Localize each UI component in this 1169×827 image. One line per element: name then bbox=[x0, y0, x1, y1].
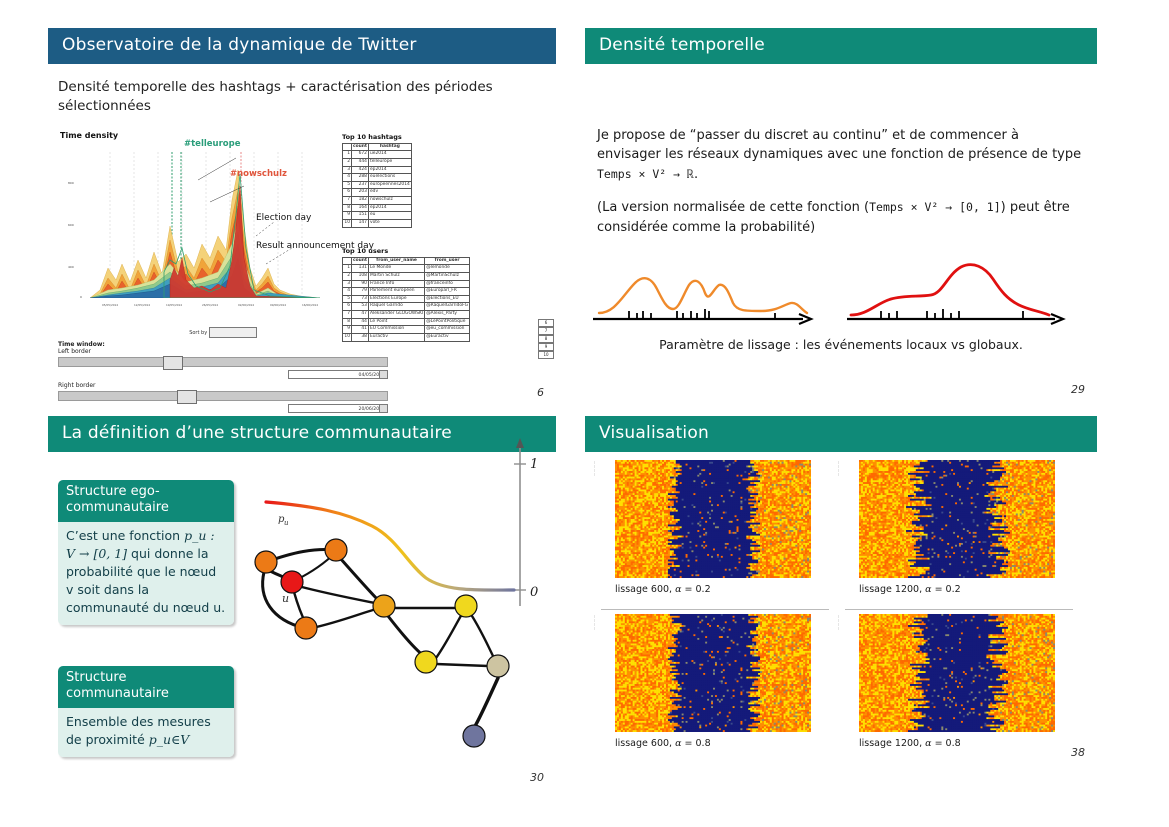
table-cell: 182 bbox=[352, 197, 369, 205]
table-row: 747Aleksander GLOGOWSKI@Alexis_Party bbox=[343, 311, 470, 319]
graph-node bbox=[415, 651, 437, 673]
table-cell: ep2014 bbox=[368, 166, 411, 174]
table-cell: @franceinfo bbox=[425, 280, 470, 288]
table-cell: 108 bbox=[352, 273, 369, 281]
slide4-title: Visualisation bbox=[585, 416, 1097, 452]
heatmap-caption: lissage 1200, α = 0.8 bbox=[859, 738, 1081, 749]
table-cell: @LePointPolitique bbox=[425, 318, 470, 326]
sort-label: Sort by bbox=[189, 330, 207, 336]
right-border-label: Right border bbox=[58, 382, 388, 389]
right-border-thumb[interactable] bbox=[177, 390, 197, 404]
sort-select[interactable] bbox=[209, 327, 257, 338]
col-from-user: from_user bbox=[425, 257, 470, 265]
slide1-figure: Time density bbox=[48, 131, 556, 399]
annotation-nowschulz: #nowschulz bbox=[230, 169, 287, 179]
p2-formula: Temps × V² → [0, 1] bbox=[869, 200, 1001, 214]
col-count: count bbox=[352, 143, 369, 151]
table-row: 5237europeennes2014 bbox=[343, 181, 412, 189]
heatmap-caption: lissage 600, α = 0.2 bbox=[615, 584, 837, 595]
index-mini-list: 678910 bbox=[538, 319, 554, 359]
slide2-paragraph-2: (La version normalisée de cette fonction… bbox=[597, 198, 1085, 237]
col-index bbox=[343, 257, 352, 265]
table-cell: 203 bbox=[352, 189, 369, 197]
svg-text:800: 800 bbox=[68, 181, 74, 185]
table-cell: vote bbox=[368, 219, 411, 227]
graph-node bbox=[487, 655, 509, 677]
caption-suffix: = 0.8 bbox=[682, 738, 711, 749]
table-cell: 444 bbox=[352, 159, 369, 167]
table-cell: 7 bbox=[343, 311, 352, 319]
heatmap-panel: ⋮⋮⋮⋮lissage 600, α = 0.8 bbox=[593, 607, 837, 757]
table-cell: 4 bbox=[343, 174, 352, 182]
table-header-row: count from_user_name from_user bbox=[343, 257, 470, 265]
heatmap-image bbox=[859, 614, 1055, 732]
curve-global bbox=[847, 265, 1063, 324]
axis-label-one: 1 bbox=[530, 457, 538, 472]
right-border-value[interactable]: 20/06/2014 bbox=[288, 404, 388, 413]
slide2-body: Je propose de “passer du discret au cont… bbox=[585, 126, 1097, 353]
slide2-page-number: 29 bbox=[1071, 383, 1085, 396]
slide1-title: Observatoire de la dynamique de Twitter bbox=[48, 28, 556, 64]
table-row: 7182nowschulz bbox=[343, 197, 412, 205]
table-cell: 10 bbox=[343, 219, 352, 227]
index-list-item[interactable]: 9 bbox=[538, 343, 554, 351]
top-users-title: Top 10 users bbox=[342, 247, 470, 255]
definition-box-ego: Structure ego-communautaire C’est une fo… bbox=[58, 480, 234, 625]
heatmap-y-ticks: ⋮⋮⋮⋮ bbox=[593, 460, 609, 580]
table-row: 1131Le Monde@lemonde bbox=[343, 265, 470, 273]
p1-text-b: . bbox=[694, 167, 698, 182]
annotation-telleurope: #telleurope bbox=[184, 139, 240, 149]
table-cell: 3 bbox=[343, 166, 352, 174]
definition-box-ego-head: Structure ego-communautaire bbox=[58, 480, 234, 522]
heatmap-panel: ⋮⋮⋮⋮lissage 1200, α = 0.8 bbox=[837, 607, 1081, 757]
center-node-label: u bbox=[282, 592, 289, 605]
heatmap-y-ticks: ⋮⋮⋮⋮ bbox=[837, 614, 853, 734]
table-row: 2444telleurope bbox=[343, 159, 412, 167]
svg-text:05/05/2014: 05/05/2014 bbox=[102, 303, 118, 307]
table-cell: 9 bbox=[343, 212, 352, 220]
table-cell: Elections Europe bbox=[368, 295, 424, 303]
table-cell: 1 bbox=[343, 265, 352, 273]
heatmap-figure: ⋮⋮⋮⋮ bbox=[593, 614, 837, 734]
table-row: 573Elections Europe@Elections_EU bbox=[343, 295, 470, 303]
table-cell: 131 bbox=[352, 265, 369, 273]
table-cell: @Alexis_Party bbox=[425, 311, 470, 319]
table-cell: 73 bbox=[352, 295, 369, 303]
caption-prefix: lissage 1200, bbox=[859, 738, 925, 749]
community-graph-svg: 1 0 p u bbox=[244, 430, 544, 780]
col-count: count bbox=[352, 257, 369, 265]
sort-control[interactable]: Sort by bbox=[58, 327, 388, 338]
slide-contact-sheet: Observatoire de la dynamique de Twitter … bbox=[0, 0, 1169, 827]
svg-text:26/05/2014: 26/05/2014 bbox=[202, 303, 218, 307]
table-cell: @Euractiv bbox=[425, 333, 470, 341]
time-window-controls: Sort by Time window: Left border 04/05/2… bbox=[58, 327, 388, 428]
panel-divider bbox=[845, 609, 1073, 610]
table-cell: 7 bbox=[343, 197, 352, 205]
index-list-item[interactable]: 6 bbox=[538, 319, 554, 327]
heatmap-caption: lissage 600, α = 0.8 bbox=[615, 738, 837, 749]
table-cell: 3 bbox=[343, 280, 352, 288]
density-curves-svg bbox=[585, 251, 1081, 329]
svg-text:400: 400 bbox=[68, 265, 74, 269]
table-row: 9151eu bbox=[343, 212, 412, 220]
table-row: 4288euelections bbox=[343, 174, 412, 182]
heatmap-y-ticks: ⋮⋮⋮⋮ bbox=[837, 460, 853, 580]
table-cell: 44 bbox=[352, 318, 369, 326]
right-border-slider[interactable] bbox=[58, 391, 388, 401]
table-cell: nowschulz bbox=[368, 197, 411, 205]
table-cell: Le Monde bbox=[368, 265, 424, 273]
svg-text:600: 600 bbox=[68, 223, 74, 227]
table-cell: telleurope bbox=[368, 159, 411, 167]
slide4-page-number: 38 bbox=[1071, 746, 1085, 759]
table-row: 3424ep2014 bbox=[343, 166, 412, 174]
table-cell: 237 bbox=[352, 181, 369, 189]
definition-box-community: Structure communautaire Ensemble des mes… bbox=[58, 666, 234, 757]
slide1-subtitle: Densité temporelle des hashtags + caract… bbox=[58, 78, 546, 117]
p1-text-a: Je propose de “passer du discret au cont… bbox=[597, 128, 1081, 163]
table-cell: 672 bbox=[352, 151, 369, 159]
table-cell: 8 bbox=[343, 204, 352, 212]
table-cell: eu bbox=[368, 212, 411, 220]
top-hashtags-table-wrap: Top 10 hashtags count hashtag 1672ue2014… bbox=[342, 133, 412, 228]
time-window-label: Time window: bbox=[58, 341, 388, 348]
heatmap-figure: ⋮⋮⋮⋮ bbox=[593, 460, 837, 580]
time-density-chart: Time density bbox=[60, 131, 332, 321]
table-cell: 47 bbox=[352, 311, 369, 319]
caption-suffix: = 0.2 bbox=[682, 584, 711, 595]
definition-box-community-body: Ensemble des mesures de proximité p_u∈V bbox=[58, 708, 234, 757]
table-cell: 1 bbox=[343, 151, 352, 159]
table-row: 6203edv bbox=[343, 189, 412, 197]
left-border-spinner[interactable] bbox=[379, 371, 387, 378]
slide-visualisation: Visualisation ⋮⋮⋮⋮lissage 600, α = 0.2⋮⋮… bbox=[585, 416, 1097, 796]
slide-densite-temporelle: Densité temporelle Je propose de “passer… bbox=[585, 28, 1097, 408]
table-row: 2108Martin Schulz@MartinSchulz bbox=[343, 273, 470, 281]
table-row: 479Parlement européen@Europarl_FR bbox=[343, 288, 470, 296]
table-cell: 2 bbox=[343, 273, 352, 281]
definition-box-ego-body: C’est une fonction p_u : V → [0, 1] qui … bbox=[58, 522, 234, 626]
annotation-election-day: Election day bbox=[256, 213, 311, 223]
caption-suffix: = 0.2 bbox=[932, 584, 961, 595]
table-cell: 2 bbox=[343, 159, 352, 167]
heatmap-image bbox=[615, 614, 811, 732]
col-from-user-name: from_user_name bbox=[368, 257, 424, 265]
index-list-item[interactable]: 7 bbox=[538, 327, 554, 335]
table-row: 653Raquel Garrido@RaquelGarridoFG bbox=[343, 303, 470, 311]
heatmap-y-ticks: ⋮⋮⋮⋮ bbox=[593, 614, 609, 734]
table-cell: Parlement européen bbox=[368, 288, 424, 296]
table-cell: Le Point bbox=[368, 318, 424, 326]
smoothing-caption: Paramètre de lissage : les événements lo… bbox=[585, 337, 1097, 352]
p1-formula: Temps × V² → ℝ bbox=[597, 167, 694, 181]
svg-text:u: u bbox=[284, 519, 289, 527]
heatmap-panel: ⋮⋮⋮⋮lissage 1200, α = 0.2 bbox=[837, 460, 1081, 603]
slide3-page-number: 30 bbox=[530, 771, 544, 784]
caption-prefix: lissage 600, bbox=[615, 738, 675, 749]
table-cell: 90 bbox=[352, 280, 369, 288]
table-cell: 79 bbox=[352, 288, 369, 296]
svg-text:16/06/2014: 16/06/2014 bbox=[302, 303, 318, 307]
table-cell: @RaquelGarridoFG bbox=[425, 303, 470, 311]
table-cell: euelections bbox=[368, 174, 411, 182]
graph-node bbox=[281, 571, 303, 593]
heatmap-figure: ⋮⋮⋮⋮ bbox=[837, 460, 1081, 580]
col-hashtag: hashtag bbox=[368, 143, 411, 151]
table-cell: 151 bbox=[352, 212, 369, 220]
svg-text:12/05/2014: 12/05/2014 bbox=[134, 303, 150, 307]
caption-prefix: lissage 1200, bbox=[859, 584, 925, 595]
table-cell: 4 bbox=[343, 288, 352, 296]
slide2-title: Densité temporelle bbox=[585, 28, 1097, 64]
slide2-paragraph-1: Je propose de “passer du discret au cont… bbox=[597, 126, 1085, 185]
index-list-item[interactable]: 8 bbox=[538, 335, 554, 343]
left-border-label: Left border bbox=[58, 348, 388, 355]
heatmap-grid: ⋮⋮⋮⋮lissage 600, α = 0.2⋮⋮⋮⋮lissage 1200… bbox=[593, 460, 1093, 761]
table-cell: ue2014 bbox=[368, 151, 411, 159]
ego-body-a: C’est une fonction bbox=[66, 528, 184, 543]
graph-node bbox=[295, 617, 317, 639]
table-cell: 8 bbox=[343, 318, 352, 326]
table-cell: Martin Schulz bbox=[368, 273, 424, 281]
col-index bbox=[343, 143, 352, 151]
svg-text:19/05/2014: 19/05/2014 bbox=[166, 303, 182, 307]
table-cell: ep2014 bbox=[368, 204, 411, 212]
community-body-formula: p_u∈V bbox=[149, 732, 190, 747]
heatmap-figure: ⋮⋮⋮⋮ bbox=[837, 614, 1081, 734]
graph-node bbox=[255, 551, 277, 573]
slide-observatoire: Observatoire de la dynamique de Twitter … bbox=[48, 28, 556, 408]
table-cell: @MartinSchulz bbox=[425, 273, 470, 281]
table-cell: @Europarl_FR bbox=[425, 288, 470, 296]
table-row: 390France Info@franceinfo bbox=[343, 280, 470, 288]
p2-text-a: (La version normalisée de cette fonction… bbox=[597, 200, 869, 215]
right-border-spinner[interactable] bbox=[379, 405, 387, 412]
svg-text:09/06/2014: 09/06/2014 bbox=[270, 303, 286, 307]
table-cell: 53 bbox=[352, 303, 369, 311]
caption-suffix: = 0.8 bbox=[932, 738, 961, 749]
left-border-value[interactable]: 04/05/2014 bbox=[288, 370, 388, 379]
community-graph-figure: 1 0 p u bbox=[244, 430, 544, 780]
table-cell: Aleksander GLOGOWSKI bbox=[368, 311, 424, 319]
panel-divider bbox=[601, 609, 829, 610]
table-cell: edv bbox=[368, 189, 411, 197]
table-row: 1672ue2014 bbox=[343, 151, 412, 159]
table-row: 8164ep2014 bbox=[343, 204, 412, 212]
table-cell: @lemonde bbox=[425, 265, 470, 273]
table-header-row: count hashtag bbox=[343, 143, 412, 151]
table-cell: 164 bbox=[352, 204, 369, 212]
table-cell: Raquel Garrido bbox=[368, 303, 424, 311]
graph-node bbox=[325, 539, 347, 561]
graph-node bbox=[455, 595, 477, 617]
heatmap-caption: lissage 1200, α = 0.2 bbox=[859, 584, 1081, 595]
heatmap-image bbox=[615, 460, 811, 578]
table-cell: 5 bbox=[343, 295, 352, 303]
slide-definition-structure: La définition d’une structure communauta… bbox=[48, 416, 556, 796]
definition-box-community-head: Structure communautaire bbox=[58, 666, 234, 708]
svg-text:0: 0 bbox=[80, 295, 82, 299]
caption-prefix: lissage 600, bbox=[615, 584, 675, 595]
top-hashtags-table: count hashtag 1672ue20142444telleurope34… bbox=[342, 143, 412, 228]
table-cell: 147 bbox=[352, 219, 369, 227]
table-cell: 288 bbox=[352, 174, 369, 182]
table-cell: @Elections_EU bbox=[425, 295, 470, 303]
heatmap-image bbox=[859, 460, 1055, 578]
table-cell: France Info bbox=[368, 280, 424, 288]
top-hashtags-title: Top 10 hashtags bbox=[342, 133, 412, 141]
table-cell: @eu_commission bbox=[425, 326, 470, 334]
table-row: 10147vote bbox=[343, 219, 412, 227]
index-list-item[interactable]: 10 bbox=[538, 351, 554, 359]
svg-text:02/06/2014: 02/06/2014 bbox=[238, 303, 254, 307]
density-curves-figure bbox=[585, 251, 1097, 333]
left-border-thumb[interactable] bbox=[163, 356, 183, 370]
slide1-page-number: 6 bbox=[537, 386, 544, 399]
table-cell: 5 bbox=[343, 181, 352, 189]
table-cell: 6 bbox=[343, 303, 352, 311]
table-cell: europeennes2014 bbox=[368, 181, 411, 189]
stacked-area-svg: 800600 4000 05/05/201412/05/2014 19/05/2… bbox=[60, 140, 332, 315]
table-cell: 6 bbox=[343, 189, 352, 197]
graph-node bbox=[373, 595, 395, 617]
left-border-slider[interactable] bbox=[58, 357, 388, 367]
graph-node bbox=[463, 725, 485, 747]
heatmap-panel: ⋮⋮⋮⋮lissage 600, α = 0.2 bbox=[593, 460, 837, 603]
axis-label-zero: 0 bbox=[530, 585, 538, 600]
curve-local bbox=[593, 278, 811, 324]
table-row: 844Le Point@LePointPolitique bbox=[343, 318, 470, 326]
table-cell: 424 bbox=[352, 166, 369, 174]
